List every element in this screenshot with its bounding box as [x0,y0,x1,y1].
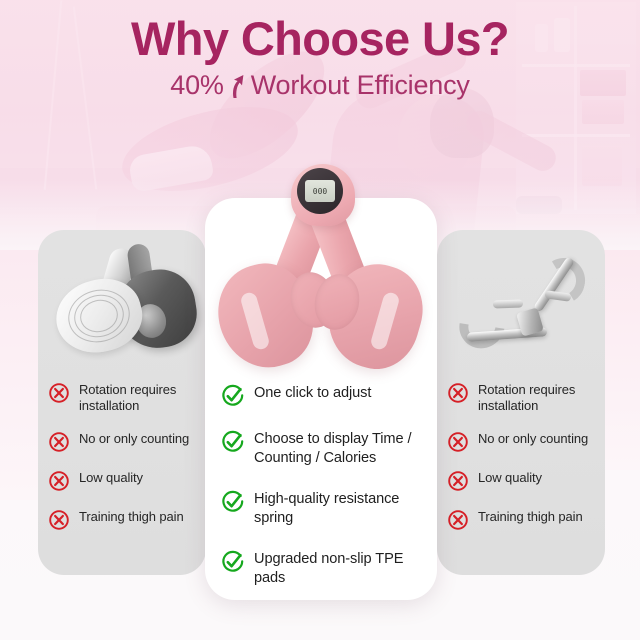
cross-circle-icon [447,382,469,404]
list-item: Rotation requires installation [447,382,597,414]
competitor-right-feature-list: Rotation requires installation No or onl… [437,382,605,548]
list-item-label: Low quality [478,470,542,486]
competitor-panel-right: Rotation requires installation No or onl… [437,230,605,575]
list-item: Low quality [447,470,597,492]
body-background-right-tint [600,250,640,470]
list-item: No or only counting [447,431,597,453]
list-item: No or only counting [48,431,198,453]
cross-circle-icon [48,470,70,492]
our-product-panel: 000 One click to adjust [205,198,437,600]
efficiency-percent: 40% [170,70,223,101]
cross-circle-icon [447,470,469,492]
list-item-label: Rotation requires installation [79,382,198,414]
list-item-label: Choose to display Time / Counting / Calo… [254,430,425,468]
page-title: Why Choose Us? [0,14,640,64]
list-item: One click to adjust [221,384,425,408]
cross-circle-icon [48,509,70,531]
check-circle-icon [221,430,245,454]
list-item-label: No or only counting [478,431,588,447]
list-item-label: Training thigh pain [79,509,184,525]
list-item: Choose to display Time / Counting / Calo… [221,430,425,468]
cross-circle-icon [447,431,469,453]
cross-circle-icon [447,509,469,531]
list-item-label: One click to adjust [254,384,371,403]
body-background-left-tint [0,250,40,500]
competitor-left-feature-list: Rotation requires installation No or onl… [38,382,206,548]
infographic-canvas: Why Choose Us? 40% Workout Efficiency [0,0,640,640]
check-circle-icon [221,490,245,514]
list-item: Training thigh pain [48,509,198,531]
list-item: Upgraded non-slip TPE pads [221,550,425,588]
list-item-label: High-quality resistance spring [254,490,425,528]
list-item: High-quality resistance spring [221,490,425,528]
list-item-label: Upgraded non-slip TPE pads [254,550,425,588]
list-item-label: Rotation requires installation [478,382,597,414]
lcd-display: 000 [305,180,335,202]
list-item-label: Low quality [79,470,143,486]
check-circle-icon [221,550,245,574]
product-counter-bezel: 000 [297,168,343,214]
competitor-right-tip-lower [493,299,523,308]
list-item-label: No or only counting [79,431,189,447]
header-block: Why Choose Us? 40% Workout Efficiency [0,0,640,101]
cross-circle-icon [48,382,70,404]
cross-circle-icon [48,431,70,453]
our-product-feature-list: One click to adjust Choose to display Ti… [205,384,437,610]
subtitle: 40% Workout Efficiency [0,70,640,101]
list-item: Training thigh pain [447,509,597,531]
list-item-label: Training thigh pain [478,509,583,525]
list-item: Low quality [48,470,198,492]
list-item: Rotation requires installation [48,382,198,414]
efficiency-label: Workout Efficiency [251,70,470,101]
arrow-up-trend-icon [225,73,247,100]
check-circle-icon [221,384,245,408]
competitor-panel-left: Rotation requires installation No or onl… [38,230,206,575]
